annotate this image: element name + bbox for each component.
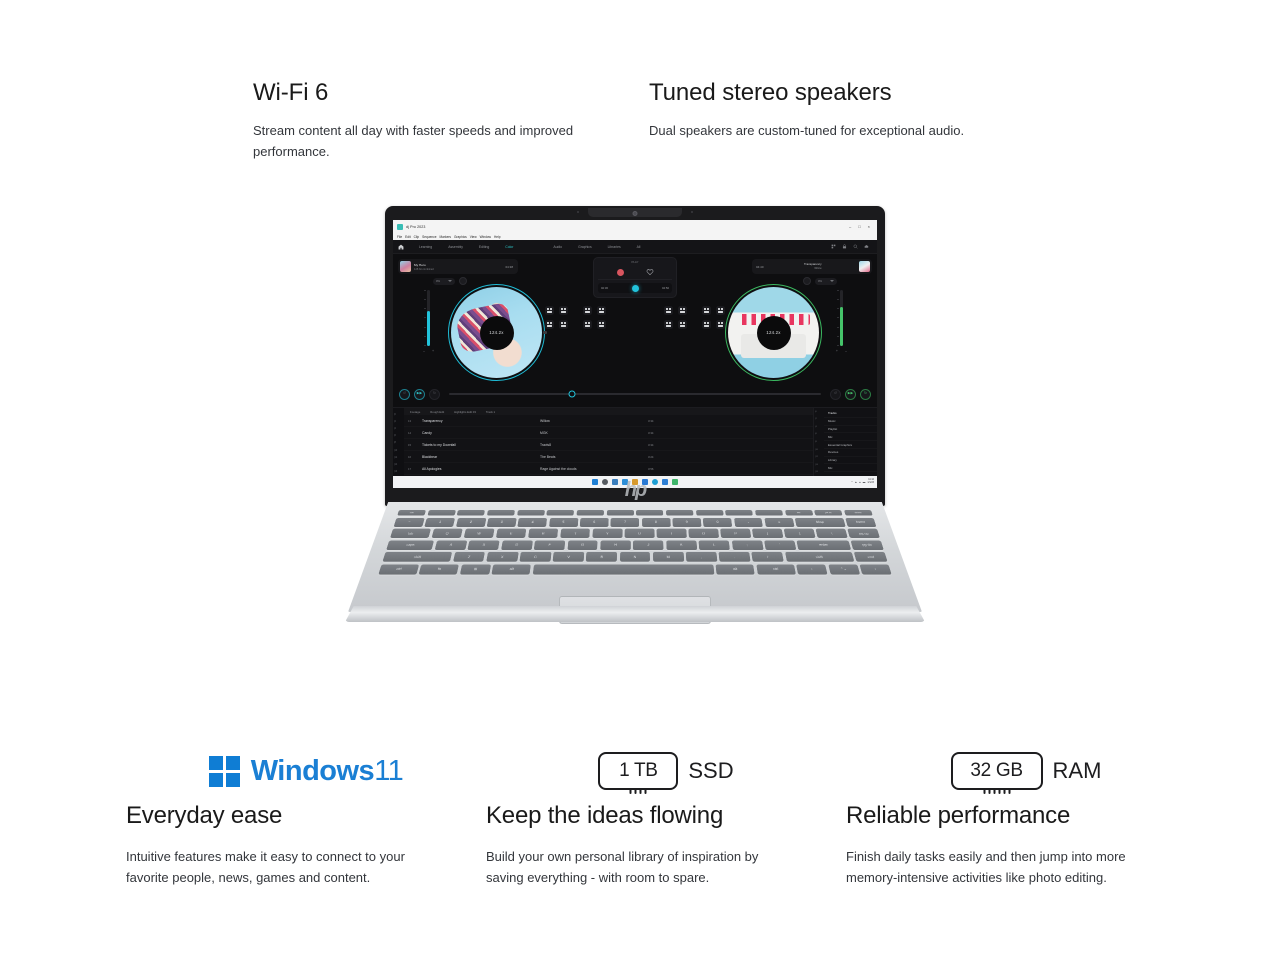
track-duration: 3:34: [648, 443, 653, 447]
key-tab[interactable]: tab: [390, 529, 431, 538]
left-bpm-hub: 124.2x: [480, 316, 514, 350]
start-icon[interactable]: [592, 479, 598, 485]
webcam-bump: [588, 208, 682, 217]
cue-pad[interactable]: [716, 306, 725, 315]
tray-volume-icon[interactable]: ●: [859, 481, 861, 484]
key-alt[interactable]: alt: [492, 564, 531, 574]
cue-pad[interactable]: [559, 320, 568, 329]
key-ins[interactable]: ins: [785, 510, 813, 516]
track-number: 16: [408, 455, 422, 459]
feature-ssd-title: Keep the ideas flowing: [486, 802, 846, 830]
track-title: All Apologies: [422, 467, 540, 471]
mixer-title: PLAY: [598, 260, 672, 264]
window-titlebar: dj Pro 2023 – □ ×: [393, 220, 877, 233]
key-space[interactable]: [487, 510, 515, 516]
window-title: dj Pro 2023: [406, 225, 425, 229]
key-enter[interactable]: enter: [797, 540, 851, 550]
cue-pad[interactable]: [583, 320, 592, 329]
mixer-knob[interactable]: [632, 285, 639, 292]
menu-item-sequence[interactable]: Sequence: [422, 235, 436, 239]
storage-chip-icon: 1 TB: [598, 752, 678, 790]
key-[interactable]: -: [734, 518, 764, 527]
feature-wifi: Wi-Fi 6 Stream content all day with fast…: [253, 80, 589, 162]
task-view-icon[interactable]: [612, 479, 618, 485]
home-icon[interactable]: [398, 244, 404, 250]
laptop-base: escinsprt scdelete~1234567890-=bksphomet…: [348, 502, 922, 626]
ram-badge-area: 32 GB RAM: [846, 740, 1206, 802]
ruler-tick: |10: [815, 449, 818, 451]
tray-chevron-icon[interactable]: ^: [851, 481, 852, 484]
key-bksp[interactable]: bksp: [795, 518, 845, 527]
ssd-capacity: 1 TB: [619, 760, 658, 782]
right-fader-plus[interactable]: +: [836, 350, 838, 354]
key-u[interactable]: U: [625, 529, 655, 538]
album-art-thumbnail: [400, 261, 411, 272]
key-space[interactable]: [533, 564, 714, 574]
close-button[interactable]: ×: [868, 225, 870, 229]
right-track-sub: Willow: [804, 267, 822, 270]
track-duration: 3:24: [648, 455, 653, 459]
left-sync-button[interactable]: ↻: [429, 389, 440, 400]
windows-logo: Windows11: [209, 755, 404, 788]
track-list-table[interactable]: 13TransparencyWillow3:3414CandyMGK3:3415…: [404, 415, 813, 476]
menu-item-file[interactable]: File: [397, 235, 402, 239]
cue-pad[interactable]: [597, 306, 606, 315]
edge-icon[interactable]: [652, 479, 658, 485]
right-fader-minus[interactable]: –: [845, 350, 847, 354]
key-prtsc[interactable]: prt sc: [814, 510, 843, 516]
master-crossfader-track[interactable]: [449, 393, 821, 395]
key-[interactable]: =: [764, 518, 794, 527]
tab-editing[interactable]: Editing: [471, 245, 497, 249]
tab-right-icons[interactable]: [831, 244, 872, 249]
chevron-down-icon: [448, 280, 452, 282]
key-q[interactable]: Q: [431, 529, 463, 538]
tab-all[interactable]: All: [629, 245, 649, 249]
track-artist: Travis8: [540, 443, 648, 447]
right-pitch-value: 0%: [818, 280, 822, 283]
key-space[interactable]: [427, 510, 456, 516]
key-w[interactable]: W: [463, 529, 494, 538]
key-caps[interactable]: caps: [386, 540, 434, 550]
store-icon[interactable]: [662, 479, 668, 485]
key-7[interactable]: 7: [611, 518, 639, 527]
track-list-tabs[interactable]: FootageRough EditHighlights Edit 03Track…: [404, 408, 813, 415]
ruler-tick: |0: [394, 414, 396, 416]
ruler-tick: |8: [394, 442, 396, 444]
windows-version: 11: [374, 755, 403, 787]
ssd-badge-area: 1 TB SSD: [486, 740, 846, 802]
ruler-tick: |4: [394, 428, 396, 430]
master-crossfader-handle[interactable]: [568, 391, 575, 398]
right-play-button[interactable]: ▶▶: [845, 389, 856, 400]
key-0[interactable]: 0: [703, 518, 732, 527]
key-[interactable]: [: [752, 529, 783, 538]
right-track-card[interactable]: 04:40 Transparency Willow: [752, 259, 872, 274]
left-sync-icon: ↻: [433, 392, 436, 396]
left-track-sub: 128 bit combined: [414, 268, 434, 271]
keyboard-row[interactable]: ctrlfn⊞altaltctrl‹⌃⌄›: [378, 564, 891, 574]
key-m[interactable]: M: [653, 552, 684, 562]
cue-pad[interactable]: [678, 306, 687, 315]
left-track-card[interactable]: My Hero 128 bit combined 04:38: [398, 259, 518, 274]
cue-pad[interactable]: [559, 306, 568, 315]
laptop-product-image: dj Pro 2023 – □ × FileEditClipSequenceMa…: [330, 196, 950, 646]
track-number: 14: [408, 431, 422, 435]
tab-learning[interactable]: Learning: [411, 245, 440, 249]
key-space[interactable]: [696, 510, 724, 516]
key-g[interactable]: G: [567, 540, 598, 550]
key-space[interactable]: [606, 510, 633, 516]
key-[interactable]: ⊞: [460, 564, 491, 574]
key-ctrl[interactable]: ctrl: [756, 564, 796, 574]
key-space[interactable]: [725, 510, 753, 516]
tab-assembly[interactable]: Assembly: [440, 245, 471, 249]
window-controls: – □ ×: [849, 225, 873, 229]
right-fader-ticks: [837, 290, 839, 346]
key-[interactable]: ~: [394, 518, 425, 527]
key-t[interactable]: T: [560, 529, 590, 538]
feature-speakers: Tuned stereo speakers Dual speakers are …: [649, 80, 1033, 162]
cue-pad[interactable]: [664, 306, 673, 315]
browser-item[interactable]: Mix: [824, 433, 877, 441]
left-pitch-value: 0%: [436, 280, 440, 283]
key-a[interactable]: A: [435, 540, 468, 550]
left-track-time: 04:38: [505, 265, 516, 269]
windows-wordmark: Windows11: [251, 755, 404, 788]
right-sync-button[interactable]: ↺: [830, 389, 841, 400]
mixer-buttons[interactable]: [598, 266, 672, 280]
menu-item-view[interactable]: View: [470, 235, 477, 239]
key-[interactable]: ]: [784, 529, 815, 538]
keyboard-row[interactable]: capsASDFGHJKL;'enterpg dn: [386, 540, 883, 550]
menu-item-clip[interactable]: Clip: [414, 235, 420, 239]
key-c[interactable]: C: [519, 552, 551, 562]
ruler-tick: |8: [815, 441, 817, 443]
right-cue-pad-grid[interactable]: [702, 306, 725, 329]
left-platter-marker: [543, 331, 547, 334]
chevron-down-icon: [830, 280, 834, 282]
key-pgdn[interactable]: pg dn: [851, 540, 884, 550]
key-shift[interactable]: shift: [382, 552, 452, 562]
left-platter[interactable]: 124.2x: [448, 284, 545, 381]
key-space[interactable]: [576, 510, 604, 516]
table-row[interactable]: 17All ApologiesRage Against the clouds3:…: [404, 463, 813, 475]
cue-pad[interactable]: [702, 306, 711, 315]
ssd-label: SSD: [688, 758, 733, 784]
top-feature-row: Wi-Fi 6 Stream content all day with fast…: [253, 80, 1033, 162]
transport-bar[interactable]: ↺ ▶▶ ↻ ↺ ▶▶ ↻: [393, 387, 877, 401]
key-[interactable]: ,: [686, 552, 717, 562]
key-[interactable]: ›: [859, 564, 891, 574]
ruler-tick: |14: [394, 464, 397, 466]
tab-color[interactable]: Color: [497, 245, 521, 249]
ruler-tick: |16: [815, 471, 818, 473]
track-number: 15: [408, 443, 422, 447]
list-tab[interactable]: Track 1: [486, 410, 495, 414]
keyboard-row[interactable]: ~1234567890-=bksphome: [394, 518, 877, 527]
track-duration: 3:34: [648, 419, 653, 423]
left-fader-ticks: [424, 290, 426, 346]
cue-pad[interactable]: [545, 320, 554, 329]
key-space[interactable]: [517, 510, 545, 516]
left-fader-buttons[interactable]: – +: [423, 350, 434, 354]
key-alt[interactable]: alt: [716, 564, 755, 574]
key-d[interactable]: D: [501, 540, 533, 550]
track-number: 13: [408, 419, 422, 423]
track-artist: MGK: [540, 431, 648, 435]
mixer-right-time: 04:50: [662, 286, 669, 290]
cue-pad[interactable]: [678, 320, 687, 329]
left-fader-track[interactable]: [427, 290, 430, 346]
key-8[interactable]: 8: [642, 518, 671, 527]
left-cue-button[interactable]: ↺: [399, 389, 410, 400]
menu-item-window[interactable]: Window: [480, 235, 491, 239]
tab-audio[interactable]: Audio: [545, 245, 570, 249]
feature-wifi-desc: Stream content all day with faster speed…: [253, 120, 589, 162]
feature-wifi-title: Wi-Fi 6: [253, 80, 589, 106]
browser-item[interactable]: Playlist: [824, 426, 877, 434]
chip-pins-icon: [983, 788, 1010, 794]
cue-pad[interactable]: [702, 320, 711, 329]
browser-list[interactable]: TracksMusicPlaylistMixEssential Graphics…: [824, 408, 877, 476]
tab-graphics[interactable]: Graphics: [570, 245, 600, 249]
browser-item[interactable]: Library: [824, 457, 877, 465]
key-z[interactable]: Z: [453, 552, 486, 562]
feature-ssd: 1 TB SSD Keep the ideas flowing Build yo…: [486, 740, 846, 888]
tray-battery-icon[interactable]: ▬: [863, 481, 866, 484]
mixer-crossfader[interactable]: 02:30 04:50: [598, 283, 672, 293]
keyboard-rows[interactable]: escinsprt scdelete~1234567890-=bksphomet…: [378, 510, 891, 574]
keyboard-row[interactable]: shiftZXCVBNM,./shiftend: [382, 552, 887, 562]
table-row[interactable]: 15Tickets to my DownfallTravis83:34: [404, 439, 813, 451]
app-icon: [397, 224, 403, 230]
ruler-tick: |2: [815, 418, 817, 420]
list-tab[interactable]: Highlights Edit 03: [454, 410, 476, 414]
key-y[interactable]: Y: [592, 529, 622, 538]
windows-badge-area: Windows11: [126, 740, 486, 802]
key-b[interactable]: B: [586, 552, 617, 562]
browser-header: Tracks: [824, 410, 877, 418]
browser-panel[interactable]: |0|2|4|6|8|10|12|14|16 TracksMusicPlayli…: [813, 408, 877, 476]
right-bpm-hub: 124.2x: [757, 316, 791, 350]
key-esc[interactable]: esc: [397, 510, 426, 516]
menu-item-graphics[interactable]: Graphics: [454, 235, 467, 239]
menu-item-edit[interactable]: Edit: [405, 235, 411, 239]
feature-windows11-title: Everyday ease: [126, 802, 486, 830]
left-loop-pad-grid[interactable]: [583, 306, 606, 329]
key-space[interactable]: [666, 510, 694, 516]
windows-word: Windows: [251, 755, 375, 787]
right-play-icon: ▶▶: [848, 392, 853, 396]
right-turntable[interactable]: 124.2x: [725, 284, 822, 381]
cue-pad[interactable]: [545, 306, 554, 315]
ruler-tick: |12: [394, 457, 397, 459]
key-l[interactable]: L: [699, 540, 730, 550]
feature-ram-title: Reliable performance: [846, 802, 1206, 830]
track-duration: 3:56: [648, 467, 653, 471]
system-tray[interactable]: ^ ▲ ● ▬ 11:12 1/1/23: [851, 479, 874, 485]
key-n[interactable]: N: [620, 552, 651, 562]
left-cue-pad-grid[interactable]: [545, 306, 568, 329]
left-volume-fader[interactable]: – +: [423, 290, 434, 354]
key-j[interactable]: J: [633, 540, 663, 550]
key-6[interactable]: 6: [580, 518, 609, 527]
table-row[interactable]: 13TransparencyWillow3:34: [404, 415, 813, 427]
right-loop-pad-grid[interactable]: [664, 306, 687, 329]
cue-pad[interactable]: [597, 320, 606, 329]
microphone-icon: [691, 211, 693, 213]
table-row[interactable]: 14CandyMGK3:34: [404, 427, 813, 439]
key-[interactable]: ⌃⌄: [828, 564, 860, 574]
key-3[interactable]: 3: [487, 518, 517, 527]
browser-item[interactable]: Devices: [824, 449, 877, 457]
base-front-edge: [345, 606, 925, 622]
bottom-feature-row: Windows11 Everyday ease Intuitive featur…: [0, 740, 1280, 888]
microphone-icon: [577, 211, 579, 213]
feature-speakers-desc: Dual speakers are custom-tuned for excep…: [649, 120, 1033, 141]
cue-pad[interactable]: [583, 306, 592, 315]
key-[interactable]: \: [816, 529, 848, 538]
track-title: Candy: [422, 431, 540, 435]
key-o[interactable]: O: [688, 529, 718, 538]
key-space[interactable]: [457, 510, 485, 516]
keyboard-row[interactable]: escinsprt scdelete: [397, 510, 873, 516]
heart-icon[interactable]: [646, 268, 654, 276]
key-space[interactable]: [636, 510, 663, 516]
ram-capacity: 32 GB: [970, 760, 1022, 782]
feature-ram-desc: Finish daily tasks easily and then jump …: [846, 846, 1156, 888]
workspace-tabs[interactable]: LearningAssemblyEditingColorAudioGraphic…: [393, 240, 877, 254]
menu-item-help[interactable]: Help: [494, 235, 501, 239]
ruler-tick: |2: [394, 421, 396, 423]
ruler-tick: |4: [815, 426, 817, 428]
track-duration: 3:34: [648, 431, 653, 435]
app-icon[interactable]: [672, 479, 678, 485]
key-delete[interactable]: delete: [844, 510, 873, 516]
key-space[interactable]: [755, 510, 783, 516]
cloud-icon[interactable]: [864, 244, 869, 249]
key-[interactable]: /: [752, 552, 784, 562]
cue-pad[interactable]: [664, 320, 673, 329]
right-platter[interactable]: 124.2x: [725, 284, 822, 381]
key-[interactable]: .: [719, 552, 751, 562]
right-fader-track[interactable]: [840, 290, 843, 346]
key-r[interactable]: R: [528, 529, 559, 538]
key-f[interactable]: F: [534, 540, 565, 550]
ruler-tick: |16: [394, 471, 397, 473]
track-title: Blackbear: [422, 455, 540, 459]
maximize-button[interactable]: □: [858, 225, 860, 229]
table-row[interactable]: 16BlackbearThe Beats3:24: [404, 451, 813, 463]
key-1[interactable]: 1: [425, 518, 456, 527]
right-cue-icon: ↻: [864, 392, 867, 396]
ruler-tick: |10: [394, 450, 397, 452]
list-tab[interactable]: Rough Edit: [430, 410, 444, 414]
left-fader-plus[interactable]: +: [432, 350, 434, 354]
webcam-icon: [633, 211, 638, 216]
key-s[interactable]: S: [468, 540, 500, 550]
key-pgup[interactable]: pg up: [848, 529, 880, 538]
cue-pad[interactable]: [716, 320, 725, 329]
key-x[interactable]: X: [486, 552, 518, 562]
feature-speakers-title: Tuned stereo speakers: [649, 80, 1033, 106]
right-track-label: Transparency Willow: [804, 263, 822, 270]
key-9[interactable]: 9: [672, 518, 701, 527]
tab-libraries[interactable]: Libraries: [600, 245, 629, 249]
key-fn[interactable]: fn: [419, 564, 459, 574]
center-mixer-panel[interactable]: PLAY 02:30 04:50: [593, 257, 677, 298]
browser-item[interactable]: Essential Graphics: [824, 441, 877, 449]
timeline-ruler-left: |0|2|4|6|8|10|12|14|16: [393, 408, 404, 476]
key-2[interactable]: 2: [456, 518, 486, 527]
app-screen: dj Pro 2023 – □ × FileEditClipSequenceMa…: [393, 220, 877, 488]
key-end[interactable]: end: [854, 552, 887, 562]
key-[interactable]: ': [764, 540, 796, 550]
key-[interactable]: ;: [731, 540, 763, 550]
browser-item[interactable]: Mix: [824, 464, 877, 472]
key-h[interactable]: H: [600, 540, 631, 550]
taskbar-clock[interactable]: 11:12 1/1/23: [867, 479, 874, 485]
browser-item[interactable]: Music: [824, 418, 877, 426]
ram-logo: 32 GB RAM: [951, 752, 1102, 790]
track-number: 17: [408, 467, 422, 471]
chip-pins-icon: [630, 788, 647, 794]
left-bpm-value: 124.2x: [489, 330, 503, 335]
key-v[interactable]: V: [553, 552, 584, 562]
minimize-button[interactable]: –: [849, 225, 851, 229]
search-icon[interactable]: [853, 244, 858, 249]
left-play-button[interactable]: ▶▶: [414, 389, 425, 400]
key-p[interactable]: P: [720, 529, 751, 538]
left-fader-minus[interactable]: –: [423, 350, 425, 354]
key-e[interactable]: E: [496, 529, 527, 538]
key-4[interactable]: 4: [518, 518, 548, 527]
feature-windows11-desc: Intuitive features make it easy to conne…: [126, 846, 436, 888]
key-home[interactable]: home: [845, 518, 876, 527]
key-5[interactable]: 5: [549, 518, 578, 527]
search-icon[interactable]: [602, 479, 608, 485]
keyboard[interactable]: escinsprt scdelete~1234567890-=bksphomet…: [399, 510, 871, 578]
menu-item-markers[interactable]: Markers: [440, 235, 452, 239]
keyboard-row[interactable]: tabQWERTYUIOP[]\pg up: [390, 529, 880, 538]
right-track-time: 04:40: [756, 265, 767, 269]
key-[interactable]: ‹: [796, 564, 827, 574]
left-turntable[interactable]: 124.2x: [448, 284, 545, 381]
key-k[interactable]: K: [666, 540, 697, 550]
hp-logo: hp: [625, 479, 645, 502]
right-cue-button[interactable]: ↻: [860, 389, 871, 400]
key-ctrl[interactable]: ctrl: [378, 564, 419, 574]
tray-network-icon[interactable]: ▲: [855, 481, 858, 484]
right-fader-buttons[interactable]: + –: [836, 350, 847, 354]
menu-bar[interactable]: FileEditClipSequenceMarkersGraphicsViewW…: [393, 233, 877, 240]
track-list-area: |0|2|4|6|8|10|12|14|16 FootageRough Edit…: [393, 407, 877, 476]
timeline-ruler-right: |0|2|4|6|8|10|12|14|16: [814, 408, 824, 476]
feature-ssd-desc: Build your own personal library of inspi…: [486, 846, 796, 888]
left-track-meta: My Hero 128 bit combined: [414, 263, 434, 271]
key-i[interactable]: I: [657, 529, 687, 538]
dj-deck-area: My Hero 128 bit combined 04:38 04:40 Tra…: [393, 254, 877, 407]
lock-icon[interactable]: [842, 244, 847, 249]
ruler-tick: |6: [394, 435, 396, 437]
record-icon[interactable]: [617, 269, 624, 276]
key-space[interactable]: [547, 510, 575, 516]
right-volume-fader[interactable]: + –: [836, 290, 847, 354]
list-tab[interactable]: Footage: [410, 410, 420, 414]
grid-icon[interactable]: [831, 244, 836, 249]
key-shift[interactable]: shift: [785, 552, 854, 562]
